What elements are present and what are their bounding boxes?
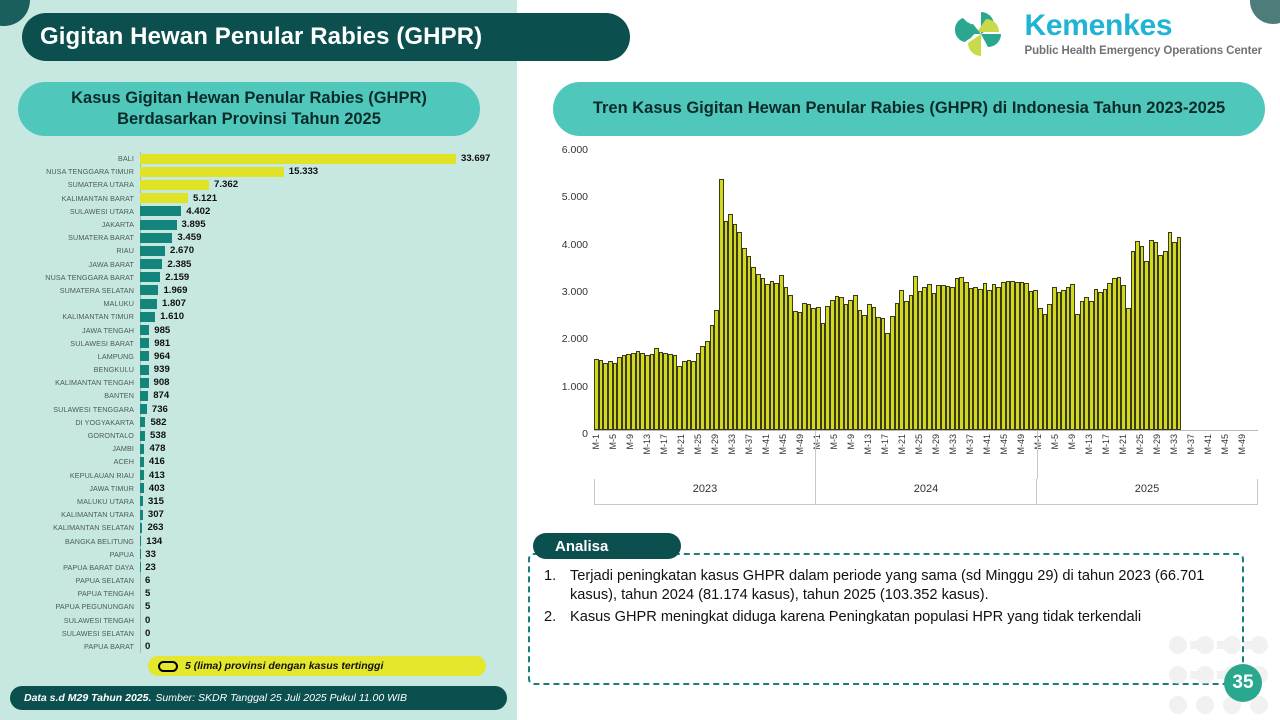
trend-bar — [1177, 237, 1182, 430]
province-value: 263 — [142, 522, 163, 533]
province-bar — [140, 378, 149, 388]
province-bar-area: 5 — [140, 600, 508, 613]
province-value: 15.333 — [284, 166, 318, 177]
province-bar — [140, 193, 188, 203]
province-label: KALIMANTAN TENGAH — [12, 378, 140, 387]
province-bar — [140, 220, 177, 230]
province-bar-area: 0 — [140, 627, 508, 640]
province-bar — [140, 180, 209, 190]
province-bar-area: 7.362 — [140, 178, 508, 191]
page-number-badge: 35 — [1224, 664, 1262, 702]
province-row: PAPUA BARAT DAYA23 — [12, 561, 508, 574]
province-bar — [140, 351, 149, 361]
province-row: SULAWESI UTARA4.402 — [12, 205, 508, 218]
province-bar-area: 413 — [140, 469, 508, 482]
province-value: 413 — [144, 470, 165, 481]
province-bar-area: 874 — [140, 389, 508, 402]
province-value: 2.385 — [162, 259, 191, 270]
province-row: KALIMANTAN UTARA307 — [12, 508, 508, 521]
province-label: BANTEN — [12, 391, 140, 400]
province-row: NUSA TENGGARA BARAT2.159 — [12, 271, 508, 284]
year-separator — [1037, 431, 1038, 479]
province-bar-area: 4.402 — [140, 205, 508, 218]
province-value: 0 — [140, 641, 150, 652]
province-bar-area: 403 — [140, 482, 508, 495]
province-value: 5 — [140, 601, 150, 612]
province-label: KALIMANTAN TIMUR — [12, 312, 140, 321]
province-bar-area: 307 — [140, 508, 508, 521]
province-bar-area: 538 — [140, 429, 508, 442]
province-value: 5 — [140, 588, 150, 599]
province-bar-area: 2.159 — [140, 271, 508, 284]
source-footer: Data s.d M29 Tahun 2025. Sumber: SKDR Ta… — [10, 686, 507, 710]
province-label: SULAWESI SELATAN — [12, 629, 140, 638]
province-bar-area: 3.459 — [140, 231, 508, 244]
province-label: NUSA TENGGARA TIMUR — [12, 167, 140, 176]
province-bar-area: 985 — [140, 323, 508, 336]
province-bar-area: 2.670 — [140, 244, 508, 257]
province-label: KALIMANTAN UTARA — [12, 510, 140, 519]
province-bar — [140, 299, 157, 309]
province-value: 538 — [145, 430, 166, 441]
province-label: JAMBI — [12, 444, 140, 453]
province-value: 134 — [141, 536, 162, 547]
province-label: JAWA BARAT — [12, 260, 140, 269]
province-bar-area: 908 — [140, 376, 508, 389]
province-row: GORONTALO538 — [12, 429, 508, 442]
legend-top5: 5 (lima) provinsi dengan kasus tertinggi — [148, 656, 486, 676]
analysis-item: 2.Kasus GHPR meningkat diduga karena Pen… — [544, 608, 1226, 627]
year-group-label: 2025 — [1036, 479, 1258, 505]
province-row: KALIMANTAN BARAT5.121 — [12, 192, 508, 205]
province-value: 1.969 — [158, 285, 187, 296]
province-row: SUMATERA SELATAN1.969 — [12, 284, 508, 297]
province-row: JAKARTA3.895 — [12, 218, 508, 231]
province-label: PAPUA BARAT — [12, 642, 140, 651]
province-bar — [140, 206, 181, 216]
kemenkes-clover-icon — [955, 8, 1015, 60]
province-value: 6 — [140, 575, 150, 586]
analysis-item-text: Terjadi peningkatan kasus GHPR dalam per… — [570, 567, 1226, 606]
province-row: SULAWESI BARAT981 — [12, 337, 508, 350]
province-label: KALIMANTAN BARAT — [12, 194, 140, 203]
province-bar-area: 5 — [140, 587, 508, 600]
province-label: JAWA TIMUR — [12, 484, 140, 493]
province-value: 3.895 — [177, 219, 206, 230]
province-row: PAPUA PEGUNUNGAN5 — [12, 600, 508, 613]
province-value: 478 — [144, 443, 165, 454]
province-label: KALIMANTAN SELATAN — [12, 523, 140, 532]
province-label: ACEH — [12, 457, 140, 466]
province-label: LAMPUNG — [12, 352, 140, 361]
province-bar — [140, 233, 172, 243]
province-row: KALIMANTAN SELATAN263 — [12, 521, 508, 534]
province-bar-chart: BALI33.697NUSA TENGGARA TIMUR15.333SUMAT… — [12, 152, 508, 653]
province-bar-area: 981 — [140, 337, 508, 350]
province-bar-area: 478 — [140, 442, 508, 455]
analysis-item: 1.Terjadi peningkatan kasus GHPR dalam p… — [544, 567, 1226, 606]
logo-text: Kemenkes Public Health Emergency Operati… — [1025, 11, 1262, 57]
province-value: 307 — [143, 509, 164, 520]
trend-chart: 01.0002.0003.0004.0005.0006.000 M-1M-5M-… — [532, 146, 1272, 506]
province-value: 908 — [149, 377, 170, 388]
analysis-item-number: 1. — [544, 567, 560, 606]
province-bar — [140, 272, 160, 282]
province-value: 23 — [140, 562, 156, 573]
province-value: 939 — [149, 364, 170, 375]
province-label: PAPUA TENGAH — [12, 589, 140, 598]
province-value: 0 — [140, 628, 150, 639]
oval-icon — [158, 661, 178, 672]
province-value: 981 — [149, 338, 170, 349]
province-row: JAWA BARAT2.385 — [12, 258, 508, 271]
province-row: RIAU2.670 — [12, 244, 508, 257]
year-separator — [815, 431, 816, 479]
province-bar-area: 315 — [140, 495, 508, 508]
province-bar-area: 33.697 — [140, 152, 508, 165]
analysis-item-text: Kasus GHPR meningkat diduga karena Penin… — [570, 608, 1226, 627]
y-tick-label: 4.000 — [562, 239, 588, 251]
province-bar — [140, 167, 284, 177]
province-row: SUMATERA UTARA7.362 — [12, 178, 508, 191]
province-value: 416 — [144, 456, 165, 467]
province-bar-area: 23 — [140, 561, 508, 574]
province-bar-area: 2.385 — [140, 258, 508, 271]
province-row: SULAWESI SELATAN0 — [12, 627, 508, 640]
province-bar — [140, 365, 149, 375]
trend-year-groups: 202320242025 — [594, 479, 1258, 505]
province-row: PAPUA SELATAN6 — [12, 574, 508, 587]
province-value: 33.697 — [456, 153, 490, 164]
province-value: 582 — [145, 417, 166, 428]
province-value: 874 — [148, 390, 169, 401]
province-row: BALI33.697 — [12, 152, 508, 165]
province-row: BANTEN874 — [12, 389, 508, 402]
province-bar — [140, 246, 165, 256]
y-tick-label: 6.000 — [562, 144, 588, 156]
province-bar-area: 0 — [140, 614, 508, 627]
province-row: SUMATERA BARAT3.459 — [12, 231, 508, 244]
province-bar — [140, 404, 147, 414]
province-label: MALUKU UTARA — [12, 497, 140, 506]
logo-subtitle: Public Health Emergency Operations Cente… — [1025, 45, 1262, 57]
province-value: 33 — [140, 549, 156, 560]
province-value: 7.362 — [209, 179, 238, 190]
province-row: MALUKU1.807 — [12, 297, 508, 310]
y-tick-label: 3.000 — [562, 286, 588, 298]
year-group-label: 2023 — [594, 479, 815, 505]
trend-y-axis: 01.0002.0003.0004.0005.0006.000 — [532, 146, 588, 430]
province-row: PAPUA BARAT0 — [12, 640, 508, 653]
province-bar-area: 0 — [140, 640, 508, 653]
province-bar — [140, 325, 149, 335]
province-value: 3.459 — [172, 232, 201, 243]
province-label: SULAWESI BARAT — [12, 339, 140, 348]
province-bar-area: 416 — [140, 455, 508, 468]
analysis-box: 1.Terjadi peningkatan kasus GHPR dalam p… — [528, 553, 1244, 685]
province-label: SULAWESI UTARA — [12, 207, 140, 216]
province-value: 5.121 — [188, 193, 217, 204]
province-value: 403 — [144, 483, 165, 494]
province-label: BALI — [12, 154, 140, 163]
y-tick-label: 1.000 — [562, 381, 588, 393]
province-bar — [140, 338, 149, 348]
y-tick-label: 2.000 — [562, 333, 588, 345]
province-label: SUMATERA BARAT — [12, 233, 140, 242]
province-bar-area: 1.807 — [140, 297, 508, 310]
province-value: 985 — [149, 325, 170, 336]
province-label: JAKARTA — [12, 220, 140, 229]
province-bar-area: 964 — [140, 350, 508, 363]
year-group-label: 2024 — [815, 479, 1036, 505]
province-bar — [140, 391, 148, 401]
province-label: BANGKA BELITUNG — [12, 537, 140, 546]
province-row: JAWA TIMUR403 — [12, 482, 508, 495]
province-label: PAPUA SELATAN — [12, 576, 140, 585]
province-bar-area: 736 — [140, 403, 508, 416]
province-label: NUSA TENGGARA BARAT — [12, 273, 140, 282]
province-bar — [140, 312, 155, 322]
province-bar-area: 582 — [140, 416, 508, 429]
province-value: 4.402 — [181, 206, 210, 217]
kemenkes-logo: Kemenkes Public Health Emergency Operati… — [955, 8, 1262, 60]
decorative-pattern — [1160, 625, 1280, 720]
province-value: 0 — [140, 615, 150, 626]
province-label: BENGKULU — [12, 365, 140, 374]
province-label: PAPUA — [12, 550, 140, 559]
province-bar-area: 33 — [140, 548, 508, 561]
province-value: 1.807 — [157, 298, 186, 309]
province-value: 2.159 — [160, 272, 189, 283]
province-row: KALIMANTAN TIMUR1.610 — [12, 310, 508, 323]
analysis-item-number: 2. — [544, 608, 560, 627]
province-bar-area: 134 — [140, 534, 508, 547]
left-chart-title: Kasus Gigitan Hewan Penular Rabies (GHPR… — [18, 82, 480, 136]
province-label: SUMATERA UTARA — [12, 180, 140, 189]
province-bar — [140, 154, 456, 164]
analysis-tab-label: Analisa — [533, 533, 681, 559]
province-row: DI YOGYAKARTA582 — [12, 416, 508, 429]
province-row: BENGKULU939 — [12, 363, 508, 376]
province-bar-area: 1.610 — [140, 310, 508, 323]
province-bar — [140, 285, 158, 295]
province-row: KEPULAUAN RIAU413 — [12, 469, 508, 482]
province-row: PAPUA TENGAH5 — [12, 587, 508, 600]
province-row: BANGKA BELITUNG134 — [12, 534, 508, 547]
trend-bar-series — [594, 150, 1258, 430]
source-detail: Sumber: SKDR Tanggal 25 Juli 2025 Pukul … — [155, 692, 407, 704]
province-value: 2.670 — [165, 245, 194, 256]
province-bar-area: 263 — [140, 521, 508, 534]
province-bar-area: 3.895 — [140, 218, 508, 231]
province-label: PAPUA PEGUNUNGAN — [12, 602, 140, 611]
province-value: 964 — [149, 351, 170, 362]
province-label: DI YOGYAKARTA — [12, 418, 140, 427]
province-label: KEPULAUAN RIAU — [12, 471, 140, 480]
province-label: RIAU — [12, 246, 140, 255]
province-row: SULAWESI TENGAH0 — [12, 614, 508, 627]
province-row: PAPUA33 — [12, 548, 508, 561]
province-row: NUSA TENGGARA TIMUR15.333 — [12, 165, 508, 178]
province-value: 736 — [147, 404, 168, 415]
province-row: ACEH416 — [12, 455, 508, 468]
province-row: LAMPUNG964 — [12, 350, 508, 363]
province-label: SULAWESI TENGGARA — [12, 405, 140, 414]
province-bar-area: 939 — [140, 363, 508, 376]
slide-root: Gigitan Hewan Penular Rabies (GHPR) Keme… — [0, 0, 1280, 720]
province-row: MALUKU UTARA315 — [12, 495, 508, 508]
source-data-period: Data s.d M29 Tahun 2025. — [24, 692, 151, 704]
trend-plot-area — [594, 150, 1258, 430]
province-bar-area: 6 — [140, 574, 508, 587]
province-row: KALIMANTAN TENGAH908 — [12, 376, 508, 389]
logo-title: Kemenkes — [1025, 11, 1262, 41]
x-tick — [1253, 431, 1257, 479]
province-label: SULAWESI TENGAH — [12, 616, 140, 625]
province-value: 315 — [143, 496, 164, 507]
legend-label: 5 (lima) provinsi dengan kasus tertinggi — [185, 660, 383, 672]
right-chart-title: Tren Kasus Gigitan Hewan Penular Rabies … — [553, 82, 1265, 136]
y-tick-label: 5.000 — [562, 191, 588, 203]
y-tick-label: 0 — [582, 428, 588, 440]
province-label: PAPUA BARAT DAYA — [12, 563, 140, 572]
province-label: SUMATERA SELATAN — [12, 286, 140, 295]
province-row: JAWA TENGAH985 — [12, 323, 508, 336]
province-row: SULAWESI TENGGARA736 — [12, 403, 508, 416]
province-bar-area: 15.333 — [140, 165, 508, 178]
province-bar-area: 1.969 — [140, 284, 508, 297]
province-label: GORONTALO — [12, 431, 140, 440]
province-value: 1.610 — [155, 311, 184, 322]
trend-x-tick-labels: M-1M-5M-9M-13M-17M-21M-25M-29M-33M-37M-4… — [594, 431, 1258, 479]
province-label: MALUKU — [12, 299, 140, 308]
province-bar — [140, 259, 162, 269]
province-label: JAWA TENGAH — [12, 326, 140, 335]
province-row: JAMBI478 — [12, 442, 508, 455]
province-bar-area: 5.121 — [140, 192, 508, 205]
page-title: Gigitan Hewan Penular Rabies (GHPR) — [22, 13, 630, 61]
